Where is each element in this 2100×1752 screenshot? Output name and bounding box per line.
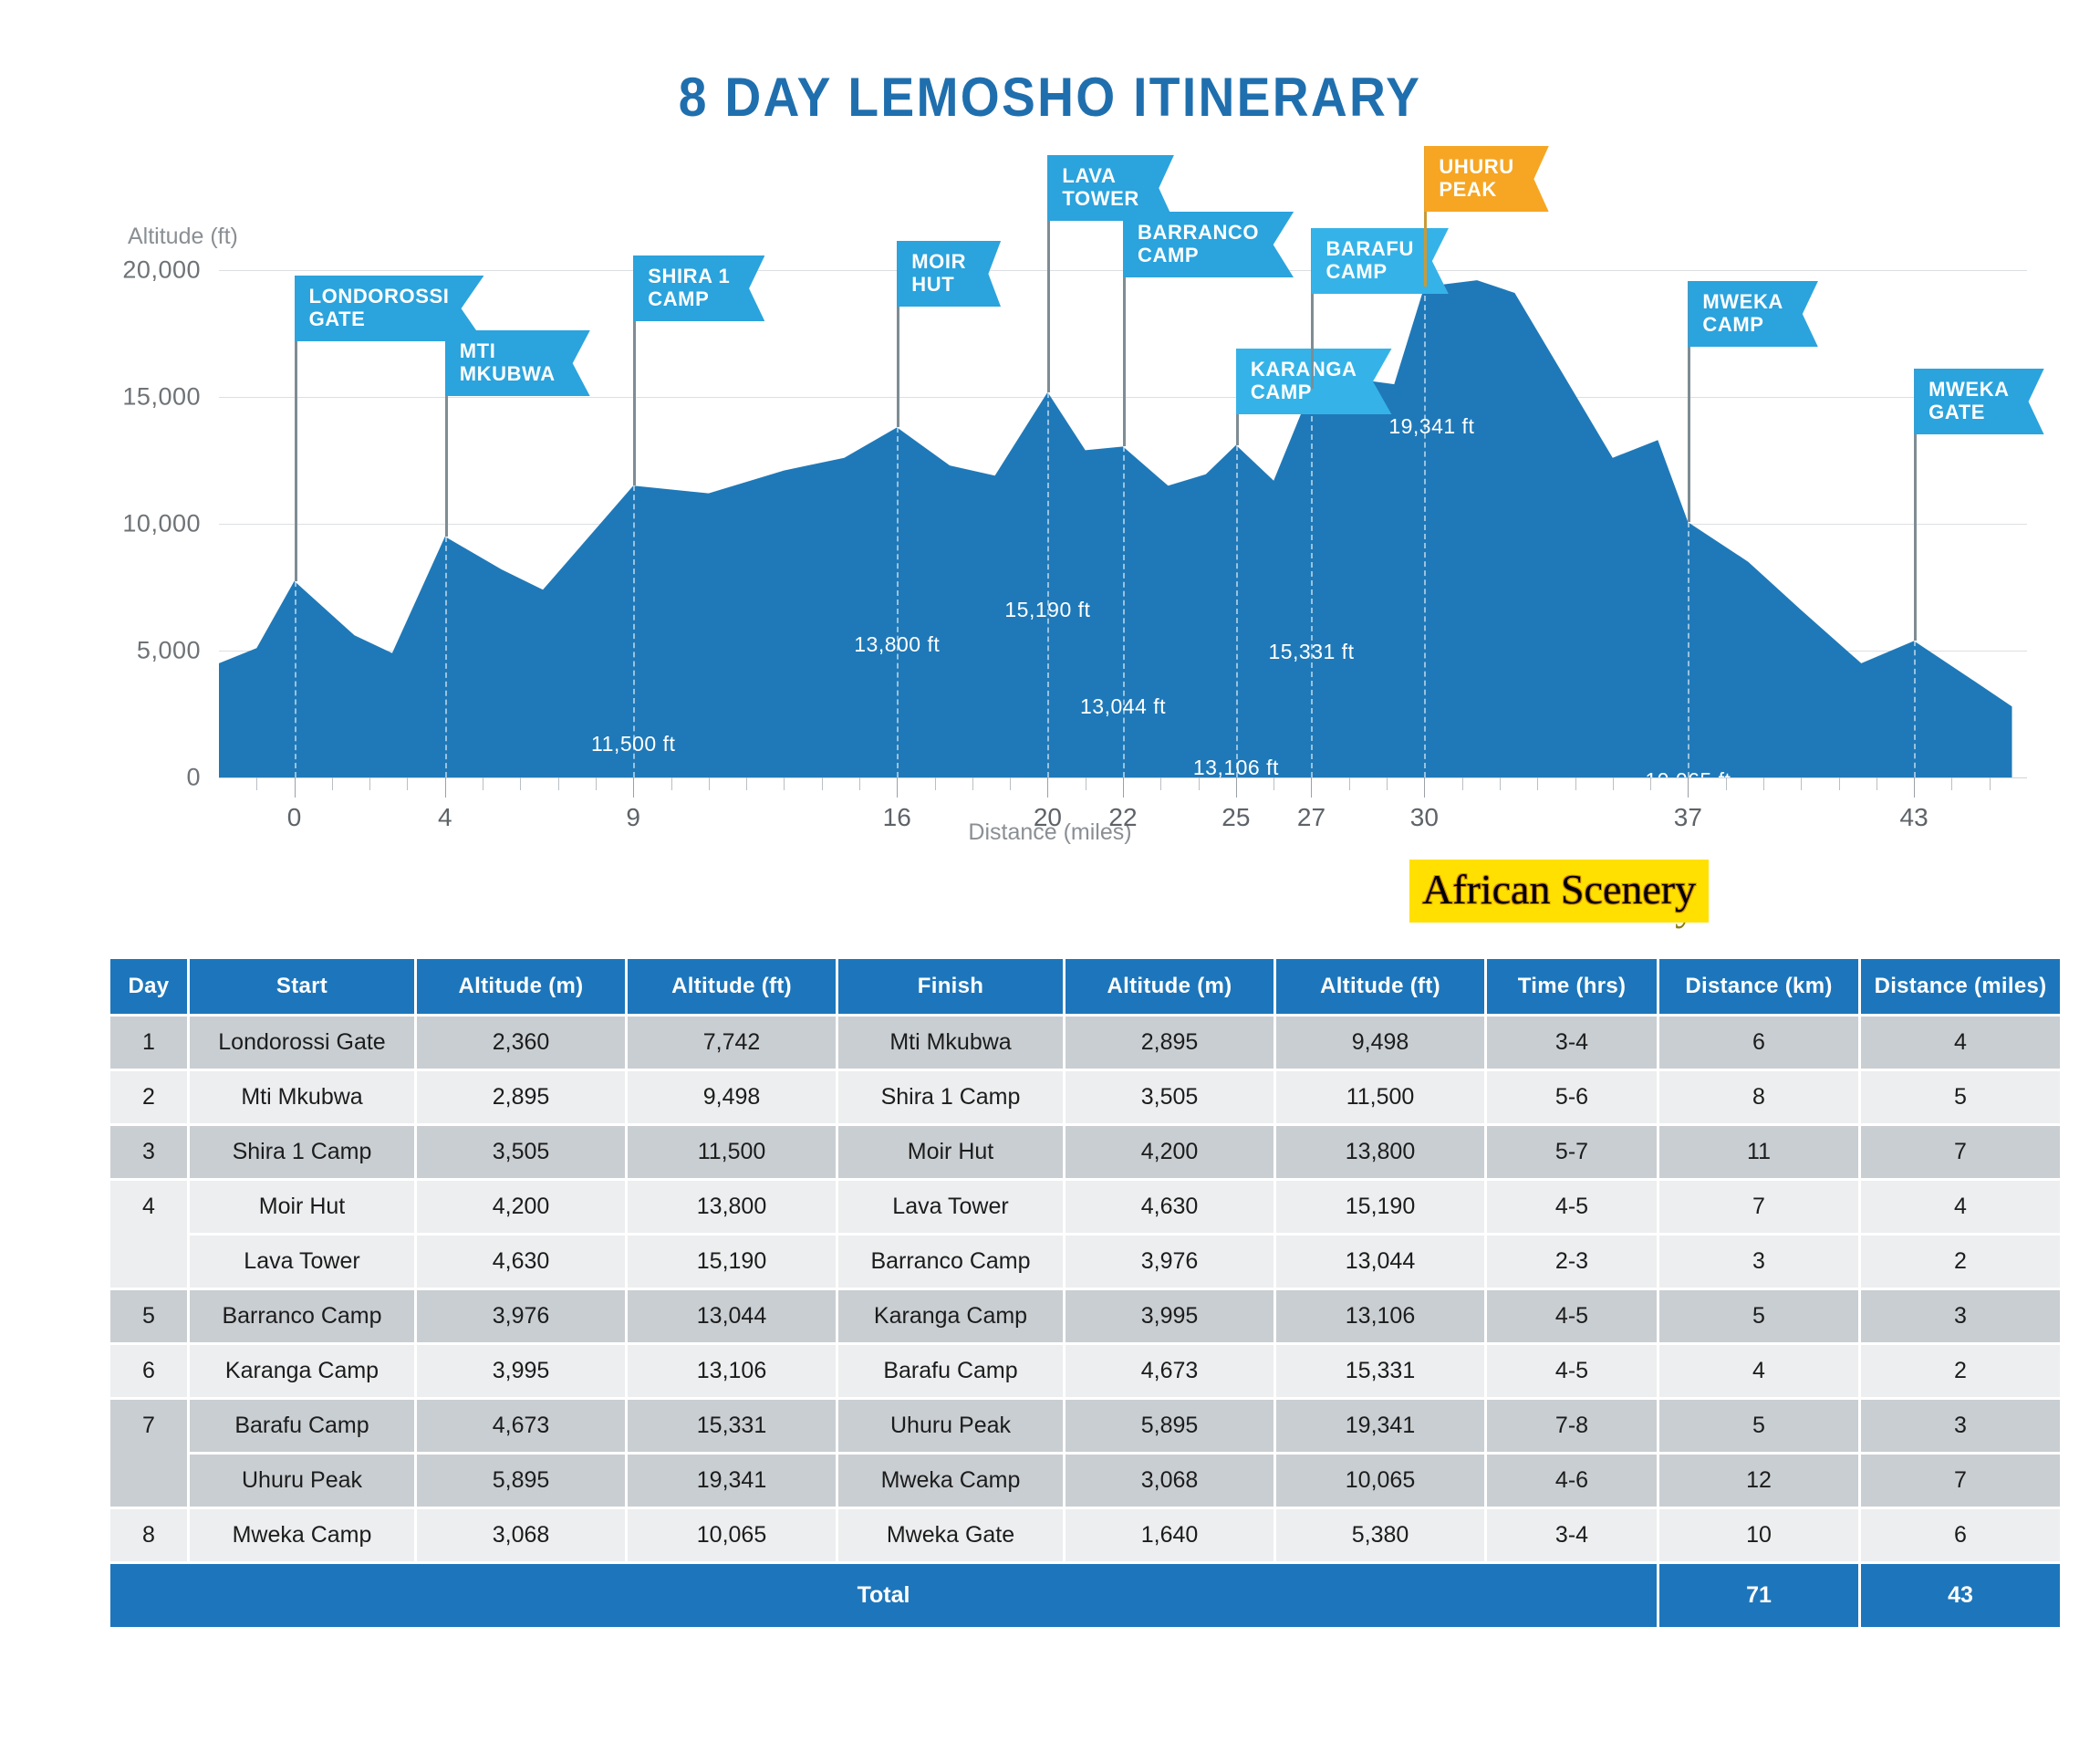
table-cell-day: 7 (110, 1400, 187, 1507)
x-axis-minor-tick (596, 777, 597, 790)
table-cell-time: 5-6 (1487, 1071, 1657, 1123)
x-axis-minor-tick (1199, 777, 1200, 790)
table-cell-finish-altitude-ft: 19,341 (1276, 1400, 1484, 1452)
itinerary-table: DayStartAltitude (m)Altitude (ft)FinishA… (108, 956, 2063, 1630)
table-cell-finish: Barafu Camp (838, 1345, 1063, 1397)
x-axis-minor-tick (256, 777, 257, 790)
table-cell-finish: Mweka Camp (838, 1455, 1063, 1507)
x-axis-minor-tick (332, 777, 333, 790)
table-cell-start-altitude-ft: 11,500 (628, 1126, 836, 1178)
flag-banner[interactable]: MTIMKUBWA (445, 330, 590, 396)
table-cell-finish-altitude-ft: 10,065 (1276, 1455, 1484, 1507)
flag-label-line2: GATE (309, 308, 366, 330)
table-cell-finish: Uhuru Peak (838, 1400, 1063, 1452)
table-cell-time: 3-4 (1487, 1017, 1657, 1069)
table-cell-start: Barranco Camp (190, 1290, 414, 1342)
flag-banner[interactable]: BARRANCOCAMP (1123, 212, 1294, 277)
table-cell-start-altitude-m: 4,200 (417, 1181, 625, 1233)
x-axis-minor-tick (1086, 777, 1086, 790)
table-cell-start-altitude-m: 3,995 (417, 1345, 625, 1397)
altitude-value-label: 15,331 ft (1268, 640, 1354, 664)
table-cell-finish: Mti Mkubwa (838, 1017, 1063, 1069)
flag-banner[interactable]: SHIRA 1CAMP (633, 255, 764, 321)
x-axis-minor-tick (1951, 777, 1952, 790)
table-cell-distance-miles: 6 (1861, 1509, 2060, 1561)
flag-label-line1: BARRANCO (1138, 221, 1259, 244)
table-cell-start: Lava Tower (190, 1236, 414, 1288)
x-axis-minor-tick (483, 777, 483, 790)
x-axis-minor-tick (935, 777, 936, 790)
table-cell-distance-miles: 3 (1861, 1400, 2060, 1452)
table-cell-finish-altitude-m: 3,995 (1066, 1290, 1274, 1342)
table-cell-finish-altitude-ft: 13,044 (1276, 1236, 1484, 1288)
x-axis-minor-tick (859, 777, 860, 790)
table-cell-start-altitude-ft: 9,498 (628, 1071, 836, 1123)
table-total-label: Total (110, 1564, 1657, 1627)
table-cell-start-altitude-m: 3,068 (417, 1509, 625, 1561)
x-axis-minor-tick (1839, 777, 1840, 790)
table-cell-finish-altitude-m: 3,505 (1066, 1071, 1274, 1123)
x-axis-minor-tick (709, 777, 710, 790)
flag-banner[interactable]: UHURUPEAK (1424, 146, 1548, 212)
table-cell-day: 8 (110, 1509, 187, 1561)
x-axis-minor-tick (822, 777, 823, 790)
table-cell-finish: Mweka Gate (838, 1509, 1063, 1561)
flag-label-line2: CAMP (1251, 381, 1312, 403)
itinerary-table-wrapper: DayStartAltitude (m)Altitude (ft)FinishA… (108, 956, 1996, 1630)
table-cell-distance-miles: 2 (1861, 1236, 2060, 1288)
table-cell-finish-altitude-m: 3,976 (1066, 1236, 1274, 1288)
flag-label-line2: CAMP (648, 287, 709, 310)
altitude-value-label: 11,500 ft (591, 732, 675, 756)
table-cell-distance-km: 10 (1659, 1509, 1858, 1561)
x-axis-minor-tick (1274, 777, 1274, 790)
flag-label-line2: CAMP (1702, 313, 1763, 336)
table-cell-day: 5 (110, 1290, 187, 1342)
table-cell-distance-miles: 3 (1861, 1290, 2060, 1342)
x-axis-tick-label: 9 (626, 803, 640, 832)
table-column-header: Altitude (ft) (628, 959, 836, 1014)
table-head: DayStartAltitude (m)Altitude (ft)FinishA… (110, 959, 2060, 1014)
table-column-header: Altitude (m) (417, 959, 625, 1014)
x-axis-tick-label: 37 (1674, 803, 1702, 832)
elevation-profile-chart: Altitude (ft) Distance (miles) 05,00010,… (0, 173, 2100, 894)
x-axis-minor-tick (1876, 777, 1877, 790)
table-cell-distance-km: 5 (1659, 1400, 1858, 1452)
x-axis-major-tick (1914, 777, 1915, 798)
table-row: Uhuru Peak5,89519,341Mweka Camp3,06810,0… (110, 1455, 2060, 1507)
x-axis-minor-tick (1613, 777, 1614, 790)
table-cell-time: 4-6 (1487, 1455, 1657, 1507)
table-cell-start: Moir Hut (190, 1181, 414, 1233)
x-axis-minor-tick (671, 777, 672, 790)
x-axis-tick-label: 0 (287, 803, 302, 832)
waypoint-dashed-line (1123, 446, 1125, 777)
x-axis-minor-tick (1500, 777, 1501, 790)
table-row: 5Barranco Camp3,97613,044Karanga Camp3,9… (110, 1290, 2060, 1342)
x-axis-minor-tick (407, 777, 408, 790)
table-cell-distance-km: 8 (1659, 1071, 1858, 1123)
x-axis-minor-tick (520, 777, 521, 790)
table-cell-time: 2-3 (1487, 1236, 1657, 1288)
altitude-value-label: 13,106 ft (1193, 756, 1279, 780)
table-row: 8Mweka Camp3,06810,065Mweka Gate1,6405,3… (110, 1509, 2060, 1561)
table-cell-start: Londorossi Gate (190, 1017, 414, 1069)
table-cell-day: 2 (110, 1071, 187, 1123)
table-cell-distance-km: 12 (1659, 1455, 1858, 1507)
table-row: 6Karanga Camp3,99513,106Barafu Camp4,673… (110, 1345, 2060, 1397)
table-cell-start: Mti Mkubwa (190, 1071, 414, 1123)
table-cell-start-altitude-m: 3,976 (417, 1290, 625, 1342)
table-cell-finish-altitude-ft: 13,800 (1276, 1126, 1484, 1178)
table-cell-start-altitude-ft: 13,044 (628, 1290, 836, 1342)
table-cell-finish: Moir Hut (838, 1126, 1063, 1178)
table-cell-finish: Barranco Camp (838, 1236, 1063, 1288)
x-axis-major-tick (1424, 777, 1425, 798)
altitude-value-label: 15,190 ft (1004, 598, 1090, 622)
flag-label-line1: MOIR (911, 250, 966, 273)
x-axis-tick-label: 30 (1410, 803, 1439, 832)
table-cell-start-altitude-ft: 15,190 (628, 1236, 836, 1288)
x-axis-major-tick (897, 777, 898, 798)
table-cell-time: 3-4 (1487, 1509, 1657, 1561)
x-axis-minor-tick (1990, 777, 1991, 790)
waypoint-dashed-line (1311, 389, 1313, 777)
table-cell-start-altitude-ft: 13,800 (628, 1181, 836, 1233)
table-row: 1Londorossi Gate2,3607,742Mti Mkubwa2,89… (110, 1017, 2060, 1069)
table-cell-start: Shira 1 Camp (190, 1126, 414, 1178)
flag-label-line2: TOWER (1062, 187, 1138, 210)
table-cell-distance-miles: 5 (1861, 1071, 2060, 1123)
table-cell-finish-altitude-m: 4,673 (1066, 1345, 1274, 1397)
watermark-box: African Scenery (1409, 860, 1709, 923)
table-total-km: 71 (1659, 1564, 1858, 1627)
table-cell-time: 7-8 (1487, 1400, 1657, 1452)
table-cell-finish-altitude-m: 1,640 (1066, 1509, 1274, 1561)
flag-banner[interactable]: MWEKACAMP (1688, 281, 1818, 347)
table-cell-distance-miles: 7 (1861, 1455, 2060, 1507)
flag-banner[interactable]: LAVATOWER (1047, 155, 1173, 221)
table-row: 3Shira 1 Camp3,50511,500Moir Hut4,20013,… (110, 1126, 2060, 1178)
flag-label-line2: GATE (1928, 401, 1985, 423)
table-cell-start: Uhuru Peak (190, 1455, 414, 1507)
flag-banner[interactable]: MOIRHUT (897, 241, 1001, 307)
table-cell-start-altitude-m: 5,895 (417, 1455, 625, 1507)
table-column-header: Altitude (ft) (1276, 959, 1484, 1014)
x-axis-tick-label: 27 (1297, 803, 1325, 832)
table-cell-finish-altitude-ft: 5,380 (1276, 1509, 1484, 1561)
table-cell-distance-miles: 2 (1861, 1345, 2060, 1397)
table-cell-start-altitude-ft: 15,331 (628, 1400, 836, 1452)
waypoint-dashed-line (1236, 445, 1238, 777)
table-cell-start-altitude-m: 3,505 (417, 1126, 625, 1178)
table-cell-finish-altitude-m: 5,895 (1066, 1400, 1274, 1452)
table-total-miles: 43 (1861, 1564, 2060, 1627)
waypoint-dashed-line (1424, 287, 1426, 777)
page-title: 8 DAY LEMOSHO ITINERARY (84, 66, 2016, 129)
x-axis-minor-tick (1349, 777, 1350, 790)
flag-label-line2: HUT (911, 273, 954, 296)
table-cell-day: 4 (110, 1181, 187, 1288)
table-cell-finish-altitude-ft: 15,190 (1276, 1181, 1484, 1233)
table-cell-start-altitude-ft: 13,106 (628, 1345, 836, 1397)
table-cell-start-altitude-m: 4,673 (417, 1400, 625, 1452)
table-cell-distance-miles: 7 (1861, 1126, 2060, 1178)
table-cell-finish-altitude-ft: 11,500 (1276, 1071, 1484, 1123)
x-axis-major-tick (295, 777, 296, 798)
x-axis-minor-tick (1462, 777, 1463, 790)
table-column-header: Altitude (m) (1066, 959, 1274, 1014)
x-axis-minor-tick (1801, 777, 1802, 790)
altitude-value-label: 19,341 ft (1388, 414, 1474, 439)
x-axis-minor-tick (746, 777, 747, 790)
x-axis-minor-tick (1160, 777, 1161, 790)
table-column-header: Distance (miles) (1861, 959, 2060, 1014)
table-cell-distance-km: 6 (1659, 1017, 1858, 1069)
table-cell-time: 4-5 (1487, 1290, 1657, 1342)
table-cell-time: 4-5 (1487, 1345, 1657, 1397)
x-axis-minor-tick (1537, 777, 1538, 790)
flag-label-line1: MWEKA (1928, 378, 2010, 401)
table-cell-finish-altitude-m: 4,200 (1066, 1126, 1274, 1178)
table-cell-finish-altitude-m: 4,630 (1066, 1181, 1274, 1233)
table-cell-finish-altitude-ft: 15,331 (1276, 1345, 1484, 1397)
table-body: 1Londorossi Gate2,3607,742Mti Mkubwa2,89… (110, 1017, 2060, 1627)
x-axis-minor-tick (1650, 777, 1651, 790)
table-cell-start: Barafu Camp (190, 1400, 414, 1452)
watermark-text: African Scenery (1422, 865, 1696, 913)
infographic-page: 8 DAY LEMOSHO ITINERARY Altitude (ft) Di… (0, 0, 2100, 1752)
x-axis-major-tick (445, 777, 446, 798)
x-axis-major-tick (1047, 777, 1048, 798)
table-cell-start-altitude-ft: 10,065 (628, 1509, 836, 1561)
flag-label-line1: BARAFU (1325, 237, 1413, 260)
x-axis-tick-label: 20 (1034, 803, 1062, 832)
x-axis-minor-tick (1763, 777, 1764, 790)
flag-label-line1: SHIRA 1 (648, 265, 730, 287)
flag-label-line2: PEAK (1439, 178, 1497, 201)
flag-banner[interactable]: MWEKAGATE (1914, 369, 2044, 434)
x-axis-minor-tick (1010, 777, 1011, 790)
x-axis-minor-tick (558, 777, 559, 790)
flag-label-line1: MTI (460, 339, 496, 362)
table-column-header: Start (190, 959, 414, 1014)
x-axis-tick-label: 25 (1222, 803, 1250, 832)
table-cell-finish: Lava Tower (838, 1181, 1063, 1233)
table-cell-finish: Karanga Camp (838, 1290, 1063, 1342)
waypoint-dashed-line (1914, 641, 1916, 777)
x-axis-minor-tick (784, 777, 785, 790)
x-axis-minor-tick (1387, 777, 1388, 790)
flag-label-line2: MKUBWA (460, 362, 556, 385)
x-axis-tick-label: 4 (438, 803, 452, 832)
table-cell-finish-altitude-m: 3,068 (1066, 1455, 1274, 1507)
x-axis-tick-label: 16 (883, 803, 911, 832)
table-cell-finish-altitude-m: 2,895 (1066, 1017, 1274, 1069)
altitude-value-label: 7,742 ft (257, 896, 331, 921)
table-row: 4Moir Hut4,20013,800Lava Tower4,63015,19… (110, 1181, 2060, 1233)
flag-label-line2: CAMP (1138, 244, 1199, 266)
flag-label-line1: LAVA (1062, 164, 1116, 187)
flag-label-line1: UHURU (1439, 155, 1513, 178)
flag-label-line1: KARANGA (1251, 358, 1357, 381)
table-cell-time: 4-5 (1487, 1181, 1657, 1233)
x-axis-major-tick (1688, 777, 1689, 798)
table-cell-start-altitude-m: 2,360 (417, 1017, 625, 1069)
table-cell-distance-km: 11 (1659, 1126, 1858, 1178)
table-cell-start: Karanga Camp (190, 1345, 414, 1397)
table-row: 2Mti Mkubwa2,8959,498Shira 1 Camp3,50511… (110, 1071, 2060, 1123)
table-column-header: Time (hrs) (1487, 959, 1657, 1014)
table-cell-finish: Shira 1 Camp (838, 1071, 1063, 1123)
x-axis-minor-tick (369, 777, 370, 790)
x-axis-minor-tick (1726, 777, 1727, 790)
table-cell-start-altitude-ft: 7,742 (628, 1017, 836, 1069)
table-cell-distance-km: 7 (1659, 1181, 1858, 1233)
altitude-value-label: 9,498 ft (408, 829, 482, 853)
table-cell-finish-altitude-ft: 13,106 (1276, 1290, 1484, 1342)
table-column-header: Distance (km) (1659, 959, 1858, 1014)
table-cell-distance-miles: 4 (1861, 1017, 2060, 1069)
table-column-header: Finish (838, 959, 1063, 1014)
table-column-header: Day (110, 959, 187, 1014)
x-axis-major-tick (1311, 777, 1312, 798)
flag-label-line2: CAMP (1325, 260, 1387, 283)
flag-label-line1: LONDOROSSI (309, 285, 450, 308)
table-cell-finish-altitude-ft: 9,498 (1276, 1017, 1484, 1069)
table-row: 7Barafu Camp4,67315,331Uhuru Peak5,89519… (110, 1400, 2060, 1452)
waypoint-dashed-line (1047, 392, 1049, 777)
altitude-value-label: 13,044 ft (1080, 694, 1166, 719)
x-axis-tick-label: 22 (1108, 803, 1137, 832)
table-cell-start-altitude-ft: 19,341 (628, 1455, 836, 1507)
x-axis-minor-tick (1575, 777, 1576, 790)
table-total-row: Total7143 (110, 1564, 2060, 1627)
waypoint-dashed-line (445, 537, 447, 777)
x-axis-major-tick (1236, 777, 1237, 798)
table-cell-start: Mweka Camp (190, 1509, 414, 1561)
table-cell-distance-miles: 4 (1861, 1181, 2060, 1233)
table-cell-distance-km: 5 (1659, 1290, 1858, 1342)
table-row: Lava Tower4,63015,190Barranco Camp3,9761… (110, 1236, 2060, 1288)
table-cell-distance-km: 4 (1659, 1345, 1858, 1397)
waypoint-dashed-line (295, 581, 296, 777)
x-axis-tick-label: 43 (1900, 803, 1928, 832)
table-header-row: DayStartAltitude (m)Altitude (ft)FinishA… (110, 959, 2060, 1014)
x-axis-major-tick (1123, 777, 1124, 798)
waypoint-dashed-line (897, 427, 899, 777)
flag-banner[interactable]: BARAFUCAMP (1311, 228, 1448, 294)
table-cell-day: 1 (110, 1017, 187, 1069)
altitude-value-label: 13,800 ft (854, 632, 940, 657)
flag-label-line1: MWEKA (1702, 290, 1783, 313)
table-cell-day: 6 (110, 1345, 187, 1397)
table-cell-day: 3 (110, 1126, 187, 1178)
waypoint-dashed-line (1688, 522, 1689, 777)
table-cell-start-altitude-m: 4,630 (417, 1236, 625, 1288)
table-cell-time: 5-7 (1487, 1126, 1657, 1178)
x-axis-major-tick (633, 777, 634, 798)
x-axis-minor-tick (972, 777, 973, 790)
table-cell-distance-km: 3 (1659, 1236, 1858, 1288)
table-cell-start-altitude-m: 2,895 (417, 1071, 625, 1123)
